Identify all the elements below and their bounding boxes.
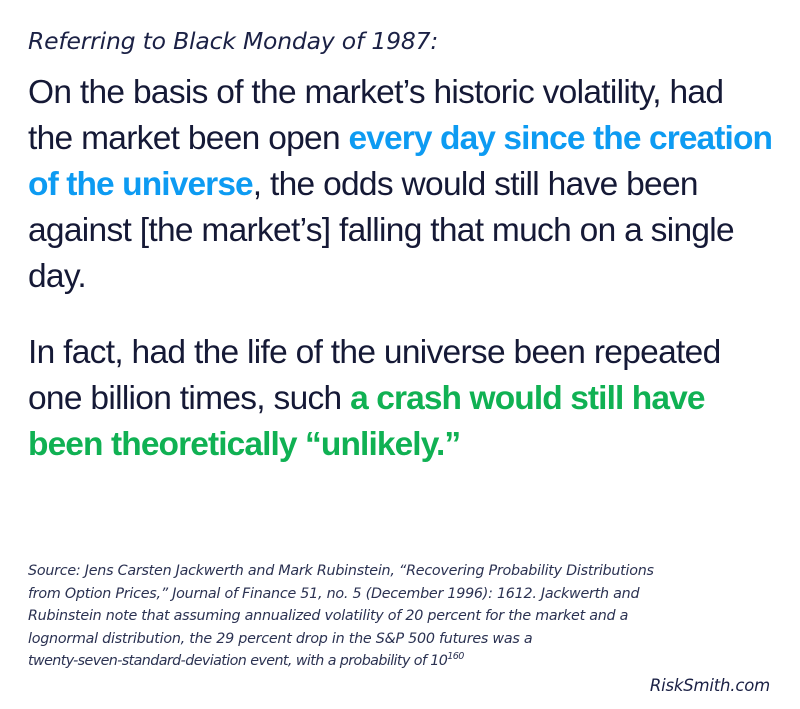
source-citation: Source: Jens Carsten Jackwerth and Mark …	[28, 560, 776, 673]
source-line-4: lognormal distribution, the 29 percent d…	[28, 628, 776, 651]
brand-watermark: RiskSmith.com	[650, 676, 770, 695]
quote-content: Referring to Black Monday of 1987: On th…	[28, 26, 776, 474]
quote-paragraph-1: On the basis of the market’s historic vo…	[28, 70, 776, 300]
source-line-5-text: twenty-seven-standard-deviation event, w…	[28, 653, 447, 669]
intro-attribution-line: Referring to Black Monday of 1987:	[28, 26, 776, 56]
source-exponent: 160	[447, 651, 464, 662]
quote-card: Referring to Black Monday of 1987: On th…	[0, 0, 800, 709]
source-line-5: twenty-seven-standard-deviation event, w…	[28, 650, 776, 673]
quote-paragraph-2: In fact, had the life of the universe be…	[28, 330, 776, 468]
source-line-1: Source: Jens Carsten Jackwerth and Mark …	[28, 560, 776, 583]
source-line-2: from Option Prices,” Journal of Finance …	[28, 583, 776, 606]
source-line-3: Rubinstein note that assuming annualized…	[28, 605, 776, 628]
